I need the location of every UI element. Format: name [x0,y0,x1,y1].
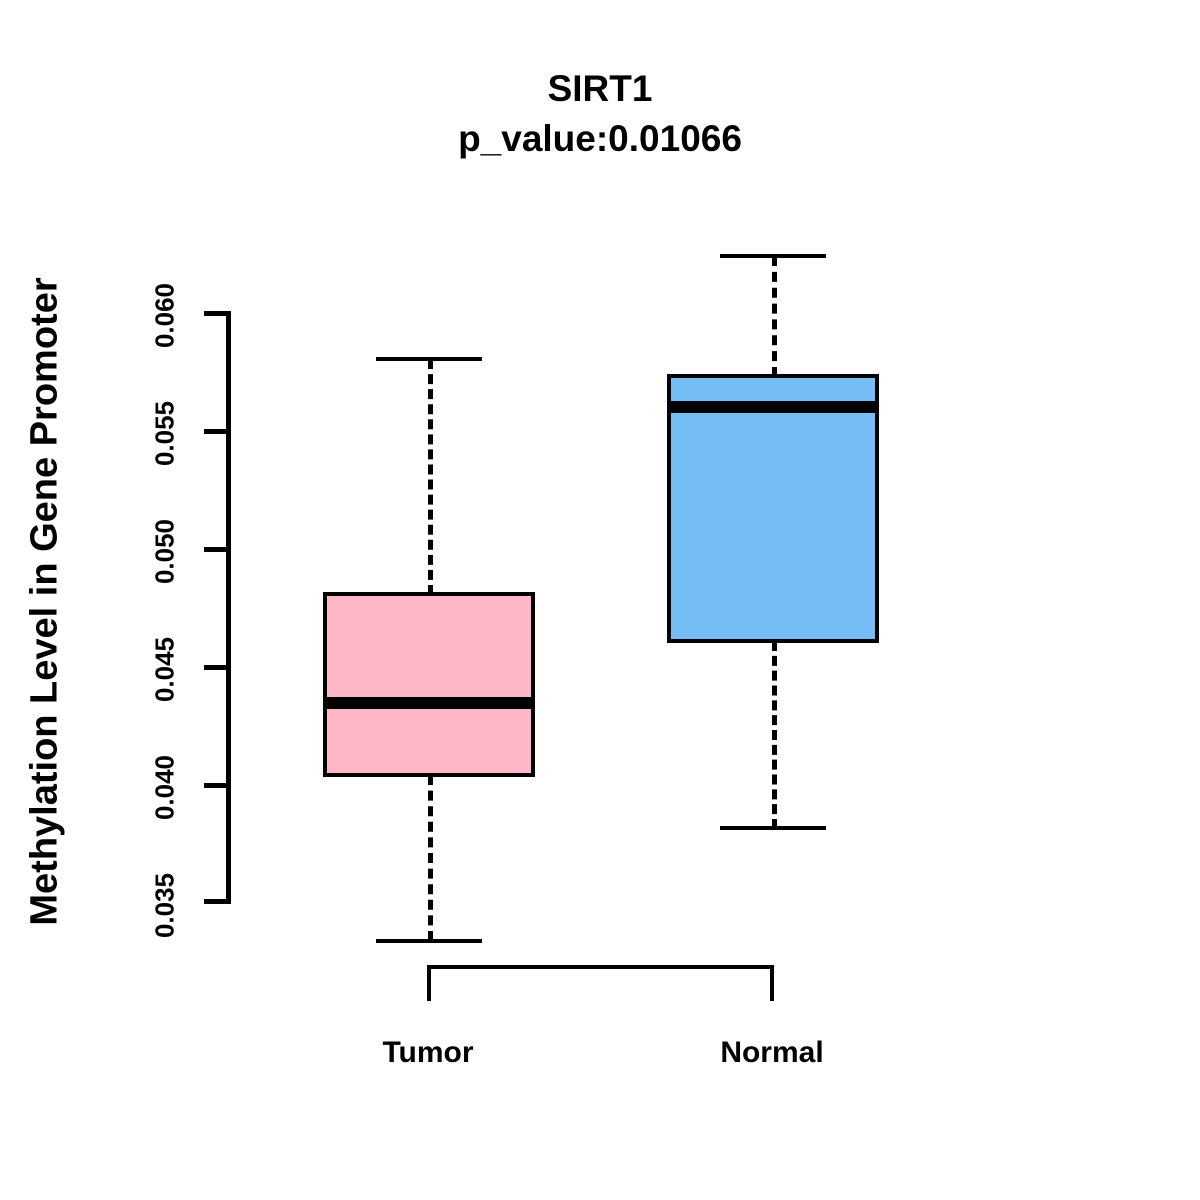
y-axis-tick-0040 [204,783,231,788]
y-tick-label-0060: 0.060 [150,256,181,376]
y-tick-label-0055: 0.055 [150,374,181,494]
y-axis-tick-0045 [204,665,231,670]
normal-median-line [667,401,879,413]
chart-subtitle-pvalue: p_value:0.01066 [0,118,1200,160]
y-tick-label-0035: 0.035 [150,846,181,966]
x-axis-tick-normal [770,965,774,1001]
normal-lower-whisker [772,641,777,829]
normal-upper-whisker [772,256,777,377]
y-axis-tick-0035 [204,899,231,904]
tumor-lower-whisker-cap [376,939,482,943]
boxplot-figure: SIRT1 p_value:0.01066 Methylation Level … [0,0,1200,1200]
y-axis-tick-0055 [204,429,231,434]
tumor-upper-whisker-cap [376,357,482,361]
x-tick-label-normal: Normal [652,1036,892,1070]
normal-upper-whisker-cap [720,254,826,258]
y-tick-label-0045: 0.045 [150,610,181,730]
y-tick-label-0050: 0.050 [150,492,181,612]
x-tick-label-tumor: Tumor [308,1036,548,1070]
x-axis-spine [427,965,774,969]
tumor-lower-whisker [428,775,433,941]
y-axis-title: Methylation Level in Gene Promoter [24,187,67,1017]
x-axis-tick-tumor [427,965,431,1001]
y-axis-tick-0060 [204,311,231,316]
normal-lower-whisker-cap [720,826,826,830]
tumor-box [323,592,535,777]
tumor-upper-whisker [428,359,433,595]
normal-box [667,374,879,643]
y-tick-label-0040: 0.040 [150,728,181,848]
y-axis-tick-0050 [204,547,231,552]
tumor-median-line [323,697,535,709]
chart-title: SIRT1 [0,68,1200,110]
y-axis-spine [226,311,231,904]
